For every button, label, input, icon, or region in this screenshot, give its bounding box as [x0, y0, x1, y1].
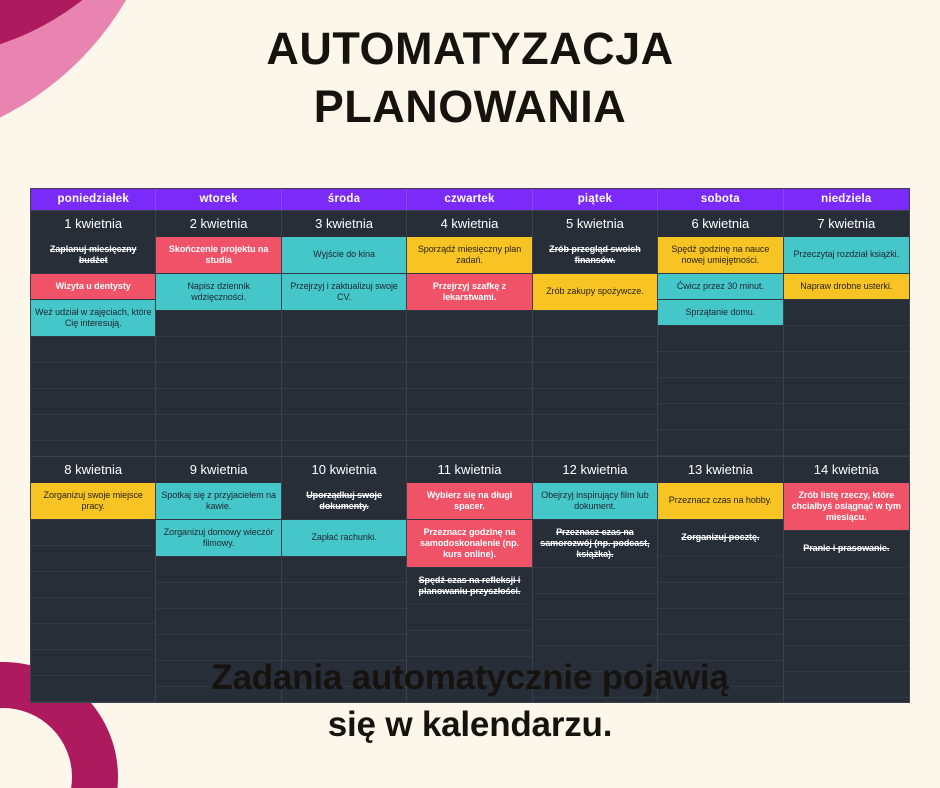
empty-slot[interactable]: [407, 311, 531, 337]
task-card[interactable]: Spotkaj się z przyjacielem na kawie.: [156, 483, 280, 520]
empty-slot[interactable]: [156, 337, 280, 363]
empty-slot[interactable]: [156, 311, 280, 337]
date-cell[interactable]: 6 kwietnia: [658, 211, 783, 237]
empty-slot[interactable]: [31, 546, 155, 572]
task-card[interactable]: Napraw drobne usterki.: [784, 274, 909, 300]
task-card[interactable]: Napisz dziennik wdzięczności.: [156, 274, 280, 311]
empty-slot[interactable]: [533, 337, 657, 363]
calendar-day-header-row: poniedziałekwtorekśrodaczwartekpiąteksob…: [31, 189, 909, 210]
empty-slot[interactable]: [658, 583, 782, 609]
empty-slot[interactable]: [156, 609, 280, 635]
task-card[interactable]: Przeznacz czas na samorozwój (np. podcas…: [533, 520, 657, 568]
empty-slot[interactable]: [31, 415, 155, 441]
task-card[interactable]: Zrób listę rzeczy, które chciałbyś osiąg…: [784, 483, 909, 531]
empty-slot[interactable]: [658, 404, 782, 430]
empty-slot[interactable]: [31, 572, 155, 598]
calendar-date-row-1: 8 kwietnia9 kwietnia10 kwietnia11 kwietn…: [31, 457, 909, 483]
day-header-2[interactable]: środa: [282, 189, 407, 210]
empty-slot[interactable]: [658, 352, 782, 378]
task-card[interactable]: Sporządź miesięczny plan zadań.: [407, 237, 531, 274]
day-header-5[interactable]: sobota: [658, 189, 783, 210]
task-card[interactable]: Przejrzyj i zaktualizuj swoje CV.: [282, 274, 406, 311]
empty-slot[interactable]: [658, 557, 782, 583]
page-title-line-2: PLANOWANIA: [0, 78, 940, 136]
empty-slot[interactable]: [156, 557, 280, 583]
date-cell[interactable]: 7 kwietnia: [784, 211, 909, 237]
empty-slot[interactable]: [533, 620, 657, 646]
empty-slot[interactable]: [533, 415, 657, 441]
page-title: AUTOMATYZACJA PLANOWANIA: [0, 20, 940, 135]
date-cell[interactable]: 3 kwietnia: [282, 211, 407, 237]
date-cell[interactable]: 8 kwietnia: [31, 457, 156, 483]
empty-slot[interactable]: [156, 363, 280, 389]
task-card[interactable]: Zorganizuj swoje miejsce pracy.: [31, 483, 155, 520]
day-column: Skończenie projektu na studiaNapisz dzie…: [156, 237, 281, 456]
task-card[interactable]: Pranie i prasowanie.: [784, 531, 909, 568]
empty-slot[interactable]: [31, 389, 155, 415]
day-column: Wyjście do kinaPrzejrzyj i zaktualizuj s…: [282, 237, 407, 456]
task-card[interactable]: Skończenie projektu na studia: [156, 237, 280, 274]
empty-slot[interactable]: [156, 583, 280, 609]
day-column: Zaplanuj miesięczny budżetWizyta u denty…: [31, 237, 156, 456]
day-column: Zrób przegląd swoich finansów.Zrób zakup…: [533, 237, 658, 456]
empty-slot[interactable]: [784, 300, 909, 326]
empty-slot[interactable]: [31, 363, 155, 389]
empty-slot[interactable]: [658, 609, 782, 635]
task-card[interactable]: Spędź godzinę na nauce nowej umiejętnośc…: [658, 237, 782, 274]
day-column: Przeczytaj rozdział książki.Napraw drobn…: [784, 237, 909, 456]
task-card[interactable]: Wizyta u dentysty: [31, 274, 155, 300]
empty-slot[interactable]: [407, 415, 531, 441]
day-header-4[interactable]: piątek: [533, 189, 658, 210]
day-header-3[interactable]: czwartek: [407, 189, 532, 210]
empty-slot[interactable]: [533, 363, 657, 389]
empty-slot[interactable]: [533, 311, 657, 337]
task-card[interactable]: Wyjście do kina: [282, 237, 406, 274]
page-footer-text: Zadania automatycznie pojawią się w kale…: [0, 655, 940, 748]
date-cell[interactable]: 13 kwietnia: [658, 457, 783, 483]
date-cell[interactable]: 4 kwietnia: [407, 211, 532, 237]
poster-stage: AUTOMATYZACJA PLANOWANIA poniedziałekwto…: [0, 0, 940, 788]
empty-slot[interactable]: [282, 583, 406, 609]
task-card[interactable]: Przeznacz czas na hobby.: [658, 483, 782, 520]
empty-slot[interactable]: [282, 415, 406, 441]
calendar-weeks: 1 kwietnia2 kwietnia3 kwietnia4 kwietnia…: [31, 210, 909, 702]
date-cell[interactable]: 11 kwietnia: [407, 457, 532, 483]
empty-slot[interactable]: [407, 605, 531, 631]
date-cell[interactable]: 10 kwietnia: [282, 457, 407, 483]
empty-slot[interactable]: [407, 337, 531, 363]
empty-slot[interactable]: [784, 404, 909, 430]
empty-slot[interactable]: [533, 594, 657, 620]
empty-slot[interactable]: [784, 568, 909, 594]
empty-slot[interactable]: [784, 430, 909, 456]
task-card[interactable]: Zrób zakupy spożywcze.: [533, 274, 657, 311]
task-card[interactable]: Weź udział w zajęciach, które Cię intere…: [31, 300, 155, 337]
task-card[interactable]: Zrób przegląd swoich finansów.: [533, 237, 657, 274]
empty-slot[interactable]: [658, 378, 782, 404]
calendar-task-grid-0: Zaplanuj miesięczny budżetWizyta u denty…: [31, 237, 909, 456]
day-header-0[interactable]: poniedziałek: [31, 189, 156, 210]
empty-slot[interactable]: [282, 311, 406, 337]
empty-slot[interactable]: [156, 389, 280, 415]
task-card[interactable]: Przeznacz godzinę na samodoskonalenie (n…: [407, 520, 531, 568]
empty-slot[interactable]: [784, 352, 909, 378]
calendar-date-row-0: 1 kwietnia2 kwietnia3 kwietnia4 kwietnia…: [31, 211, 909, 237]
date-cell[interactable]: 9 kwietnia: [156, 457, 281, 483]
task-card[interactable]: Spędź czas na refleksji i planowaniu prz…: [407, 568, 531, 605]
date-cell[interactable]: 12 kwietnia: [533, 457, 658, 483]
task-card[interactable]: Zapłać rachunki.: [282, 520, 406, 557]
date-cell[interactable]: 2 kwietnia: [156, 211, 281, 237]
empty-slot[interactable]: [282, 363, 406, 389]
empty-slot[interactable]: [533, 568, 657, 594]
empty-slot[interactable]: [658, 326, 782, 352]
task-card[interactable]: Przejrzyj szafkę z lekarstwami.: [407, 274, 531, 311]
task-card[interactable]: Przeczytaj rozdział książki.: [784, 237, 909, 274]
task-card[interactable]: Sprzątanie domu.: [658, 300, 782, 326]
task-card[interactable]: Zaplanuj miesięczny budżet: [31, 237, 155, 274]
empty-slot[interactable]: [784, 326, 909, 352]
empty-slot[interactable]: [31, 624, 155, 650]
empty-slot[interactable]: [31, 337, 155, 363]
page-title-line-1: AUTOMATYZACJA: [0, 20, 940, 78]
empty-slot[interactable]: [282, 389, 406, 415]
empty-slot[interactable]: [784, 620, 909, 646]
empty-slot[interactable]: [31, 520, 155, 546]
empty-slot[interactable]: [658, 430, 782, 456]
empty-slot[interactable]: [156, 415, 280, 441]
task-card[interactable]: Uporządkuj swoje dokumenty.: [282, 483, 406, 520]
empty-slot[interactable]: [282, 557, 406, 583]
date-cell[interactable]: 5 kwietnia: [533, 211, 658, 237]
day-column: Spędź godzinę na nauce nowej umiejętnośc…: [658, 237, 783, 456]
empty-slot[interactable]: [784, 594, 909, 620]
empty-slot[interactable]: [407, 389, 531, 415]
day-header-1[interactable]: wtorek: [156, 189, 281, 210]
day-header-6[interactable]: niedziela: [784, 189, 909, 210]
page-footer-line-1: Zadania automatycznie pojawią: [0, 655, 940, 702]
empty-slot[interactable]: [31, 598, 155, 624]
calendar-table: poniedziałekwtorekśrodaczwartekpiąteksob…: [30, 188, 910, 703]
page-footer-line-2: się w kalendarzu.: [0, 702, 940, 749]
task-card[interactable]: Zorganizuj pocztę.: [658, 520, 782, 557]
empty-slot[interactable]: [407, 363, 531, 389]
task-card[interactable]: Ćwicz przez 30 minut.: [658, 274, 782, 300]
calendar-week-0: 1 kwietnia2 kwietnia3 kwietnia4 kwietnia…: [31, 210, 909, 456]
empty-slot[interactable]: [282, 337, 406, 363]
task-card[interactable]: Wybierz się na długi spacer.: [407, 483, 531, 520]
date-cell[interactable]: 14 kwietnia: [784, 457, 909, 483]
empty-slot[interactable]: [533, 389, 657, 415]
empty-slot[interactable]: [282, 609, 406, 635]
task-card[interactable]: Zorganizuj domowy wieczór filmowy.: [156, 520, 280, 557]
empty-slot[interactable]: [784, 378, 909, 404]
day-column: Sporządź miesięczny plan zadań.Przejrzyj…: [407, 237, 532, 456]
empty-slot[interactable]: [407, 631, 531, 657]
date-cell[interactable]: 1 kwietnia: [31, 211, 156, 237]
task-card[interactable]: Obejrzyj inspirujący film lub dokument.: [533, 483, 657, 520]
